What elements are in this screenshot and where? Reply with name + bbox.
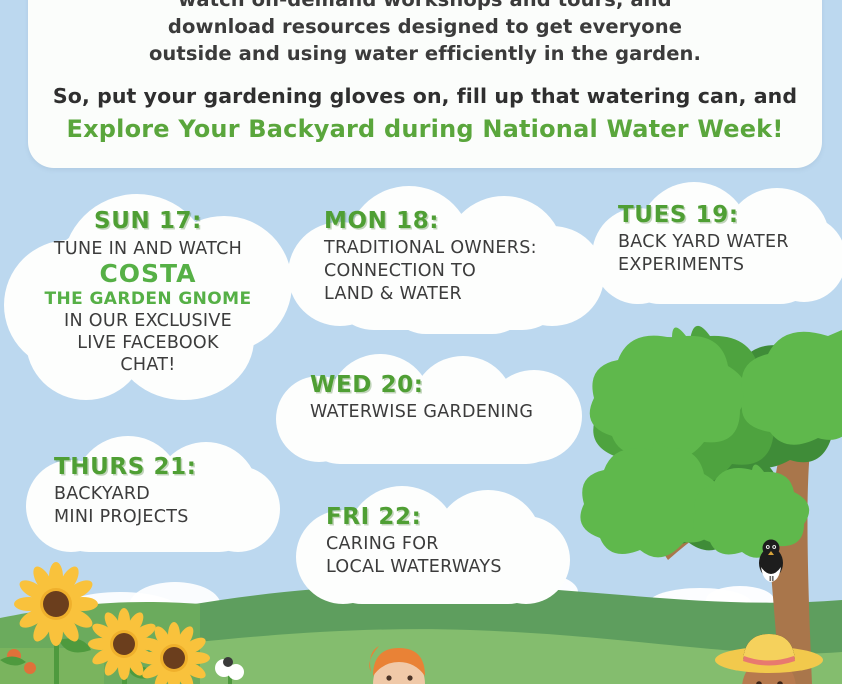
desc-line-1: BACK YARD WATER [618,231,840,254]
cloud-day-heading: THURS 21: [54,454,274,480]
desc-line-1: BACKYARD [54,483,274,506]
intro-panel: watch on-demand workshops and tours, and… [28,0,822,168]
intro-line-3: outside and using water efficiently in t… [28,40,822,67]
desc-line-1: WATERWISE GARDENING [310,401,584,424]
garden-bed-left [0,648,104,684]
schedule-cloud-mon[interactable]: MON 18: TRADITIONAL OWNERS: CONNECTION T… [288,186,604,334]
schedule-cloud-sun[interactable]: SUN 17: TUNE IN AND WATCH COSTA THE GARD… [4,186,292,400]
desc-line-1: TUNE IN AND WATCH [54,239,242,259]
cloud-day-heading: MON 18: [324,208,598,234]
cloud-description: BACK YARD WATER EXPERIMENTS [618,231,840,277]
cloud-day-heading: TUES 19: [618,202,840,228]
cloud-description: BACKYARD MINI PROJECTS [54,483,274,529]
desc-line-3: LIVE FACEBOOK [10,332,286,354]
desc-line-2: IN OUR EXCLUSIVE [10,310,286,332]
desc-line-2: CONNECTION TO [324,260,598,283]
intro-cta-highlight: Explore Your Backyard during National Wa… [28,112,822,146]
intro-line-2: download resources designed to get every… [28,13,822,40]
intro-line-1: watch on-demand workshops and tours, and [28,0,822,13]
cloud-day-heading: SUN 17: [10,208,286,234]
cloud-description: TUNE IN AND WATCH COSTA THE GARDEN GNOME… [10,238,286,376]
infographic-canvas: SUN 17: TUNE IN AND WATCH COSTA THE GARD… [0,0,842,684]
cloud-description: CARING FOR LOCAL WATERWAYS [326,533,564,579]
desc-costa: COSTA [10,260,286,288]
desc-line-2: LOCAL WATERWAYS [326,556,564,579]
schedule-cloud-fri[interactable]: FRI 22: CARING FOR LOCAL WATERWAYS [296,486,570,608]
desc-line-2: MINI PROJECTS [54,506,274,529]
cloud-description: WATERWISE GARDENING [310,401,584,424]
schedule-cloud-thurs[interactable]: THURS 21: BACKYARD MINI PROJECTS [26,436,280,558]
cloud-description: TRADITIONAL OWNERS: CONNECTION TO LAND &… [324,237,598,306]
schedule-cloud-tues[interactable]: TUES 19: BACK YARD WATER EXPERIMENTS [592,182,842,310]
desc-line-1: TRADITIONAL OWNERS: [324,237,598,260]
desc-line-1: CARING FOR [326,533,564,556]
intro-cta: So, put your gardening gloves on, fill u… [28,81,822,146]
cloud-day-heading: WED 20: [310,372,584,398]
desc-line-4: CHAT! [10,354,286,376]
desc-line-2: EXPERIMENTS [618,254,840,277]
desc-garden-gnome: THE GARDEN GNOME [10,288,286,310]
desc-line-3: LAND & WATER [324,283,598,306]
intro-cta-line: So, put your gardening gloves on, fill u… [53,84,797,108]
cloud-day-heading: FRI 22: [326,504,564,530]
schedule-cloud-wed[interactable]: WED 20: WATERWISE GARDENING [276,354,590,468]
